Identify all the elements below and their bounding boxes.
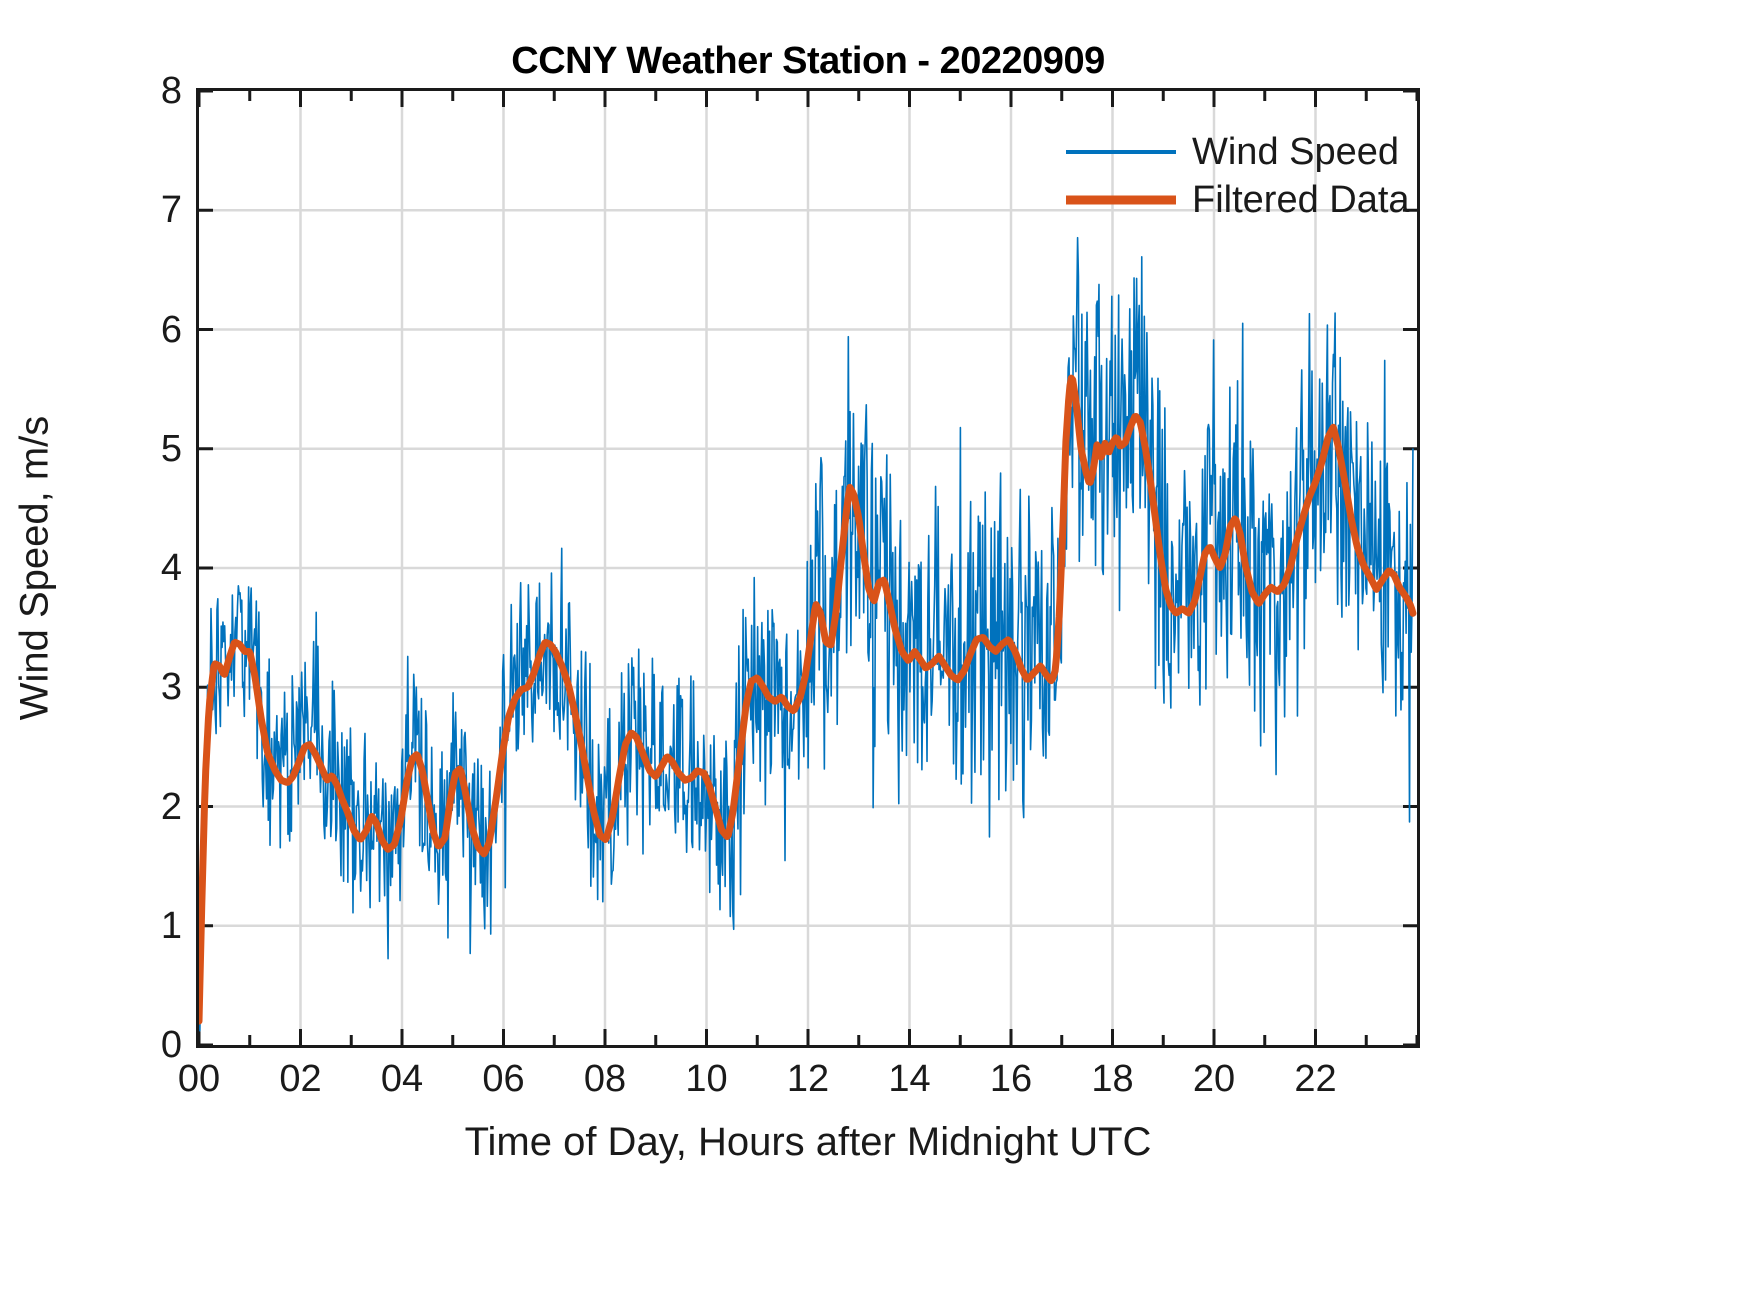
y-axis-title-wrapper: Wind Speed, m/s: [0, 0, 70, 1136]
x-tick-label: 22: [1276, 1060, 1356, 1098]
legend-line-wind-speed-icon: [1066, 128, 1176, 176]
y-tick-label: 6: [122, 311, 182, 349]
page-title: CCNY Weather Station - 20220909: [196, 40, 1420, 83]
x-tick-label: 10: [667, 1060, 747, 1098]
chart-figure: CCNY Weather Station - 20220909 Wind Spe…: [0, 0, 1750, 1313]
x-tick-label: 12: [768, 1060, 848, 1098]
x-tick-label: 16: [971, 1060, 1051, 1098]
x-tick-label: 04: [362, 1060, 442, 1098]
y-tick-label: 8: [122, 72, 182, 110]
y-axis-tick-labels: 012345678: [112, 88, 182, 1048]
legend-entry[interactable]: Wind Speed: [1066, 128, 1406, 176]
x-tick-label: 08: [565, 1060, 645, 1098]
legend-label: Filtered Data: [1176, 181, 1410, 219]
y-tick-label: 4: [122, 549, 182, 587]
series-line-wind-speed: [199, 238, 1413, 1031]
y-tick-label: 0: [122, 1026, 182, 1064]
legend-line-filtered-data-icon: [1066, 176, 1176, 224]
x-tick-label: 02: [261, 1060, 341, 1098]
y-tick-label: 3: [122, 668, 182, 706]
x-axis-title: Time of Day, Hours after Midnight UTC: [196, 1120, 1420, 1165]
x-tick-label: 14: [870, 1060, 950, 1098]
y-tick-label: 5: [122, 430, 182, 468]
x-tick-label: 18: [1073, 1060, 1153, 1098]
plot-canvas: [199, 91, 1417, 1045]
x-tick-label: 06: [464, 1060, 544, 1098]
x-tick-label: 20: [1174, 1060, 1254, 1098]
y-tick-label: 7: [122, 191, 182, 229]
plot-area: [196, 88, 1420, 1048]
legend-label: Wind Speed: [1176, 133, 1399, 171]
y-tick-label: 1: [122, 907, 182, 945]
x-tick-label: 00: [159, 1060, 239, 1098]
chart-legend: Wind SpeedFiltered Data: [1066, 128, 1406, 228]
y-tick-label: 2: [122, 788, 182, 826]
x-axis-tick-labels: 000204060810121416182022: [196, 1060, 1420, 1110]
legend-entry[interactable]: Filtered Data: [1066, 176, 1406, 224]
y-axis-title: Wind Speed, m/s: [13, 416, 58, 721]
